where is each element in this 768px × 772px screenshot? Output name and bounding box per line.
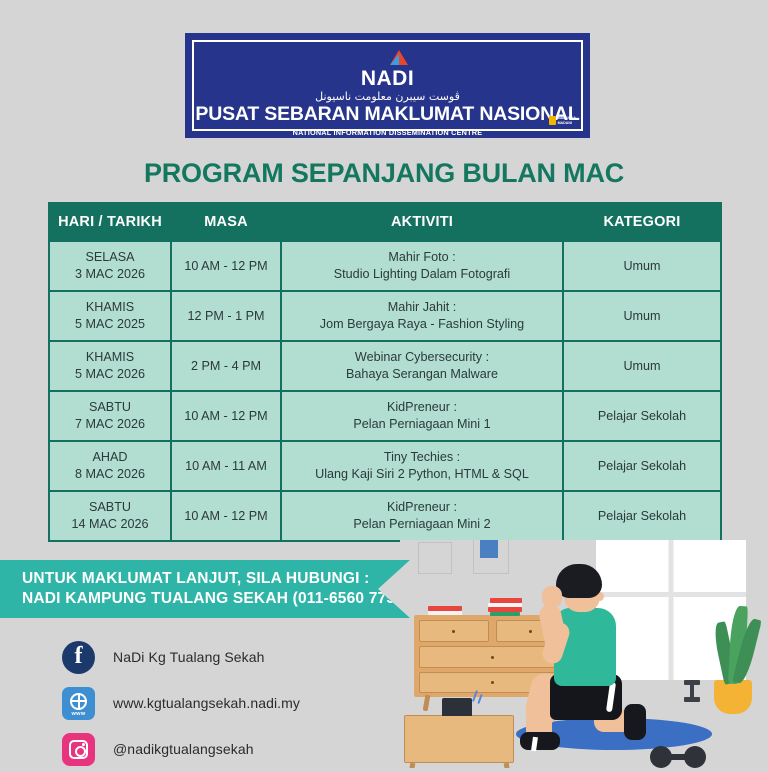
- cell-kategori: Umum: [563, 291, 721, 341]
- column-header-masa: MASA: [171, 203, 281, 241]
- facebook-icon[interactable]: f: [62, 641, 95, 674]
- activity-title: Tiny Techies :: [286, 449, 558, 466]
- column-header-aktiviti: AKTIVITI: [281, 203, 563, 241]
- activity-title: Mahir Jahit :: [286, 299, 558, 316]
- activity-detail: Studio Lighting Dalam Fotografi: [286, 266, 558, 283]
- table-row: KHAMIS 5 MAC 2026 2 PM - 4 PM Webinar Cy…: [49, 341, 721, 391]
- cell-aktiviti: Webinar Cybersecurity : Bahaya Serangan …: [281, 341, 563, 391]
- row-date: 3 MAC 2026: [54, 266, 166, 283]
- column-header-hari-tarikh: HARI / TARIKH: [49, 203, 171, 241]
- madani-mark-icon: [549, 116, 556, 125]
- cell-kategori: Pelajar Sekolah: [563, 441, 721, 491]
- cell-masa: 10 AM - 12 PM: [171, 391, 281, 441]
- mydigital-icon: [390, 50, 408, 65]
- social-link-website[interactable]: www www.kgtualangsekah.nadi.my: [62, 680, 300, 726]
- contact-line-1: UNTUK MAKLUMAT LANJUT, SILA HUBUNGI :: [22, 569, 410, 589]
- website-label: www.kgtualangsekah.nadi.my: [113, 695, 300, 711]
- row-day: AHAD: [54, 449, 166, 466]
- nadi-banner: NADI ڤوست سيبرن معلومت ناسيونل PUSAT SEB…: [185, 33, 590, 138]
- cell-aktiviti: Tiny Techies : Ulang Kaji Siri 2 Python,…: [281, 441, 563, 491]
- person-fist: [542, 586, 562, 608]
- nadi-acronym: NADI: [361, 68, 414, 89]
- activity-detail: Ulang Kaji Siri 2 Python, HTML & SQL: [286, 466, 558, 483]
- activity-title: KidPreneur :: [286, 399, 558, 416]
- cell-aktiviti: Mahir Jahit : Jom Bergaya Raya - Fashion…: [281, 291, 563, 341]
- cell-hari-tarikh: AHAD 8 MAC 2026: [49, 441, 171, 491]
- table-row: KHAMIS 5 MAC 2025 12 PM - 1 PM Mahir Jah…: [49, 291, 721, 341]
- cell-aktiviti: Mahir Foto : Studio Lighting Dalam Fotog…: [281, 241, 563, 291]
- table-row: SABTU 7 MAC 2026 10 AM - 12 PM KidPreneu…: [49, 391, 721, 441]
- cell-masa: 10 AM - 11 AM: [171, 441, 281, 491]
- jata-negara-icon: [368, 49, 383, 65]
- schedule-table: HARI / TARIKH MASA AKTIVITI KATEGORI SEL…: [48, 202, 722, 542]
- facebook-label: NaDi Kg Tualang Sekah: [113, 649, 265, 665]
- cell-aktiviti: KidPreneur : Pelan Perniagaan Mini 1: [281, 391, 563, 441]
- large-dumbbell-icon: [650, 746, 706, 768]
- cell-masa: 2 PM - 4 PM: [171, 341, 281, 391]
- row-day: SELASA: [54, 249, 166, 266]
- row-day: KHAMIS: [54, 349, 166, 366]
- activity-title: Mahir Foto :: [286, 249, 558, 266]
- plant-pot: [714, 680, 752, 714]
- row-day: KHAMIS: [54, 299, 166, 316]
- cell-kategori: Umum: [563, 241, 721, 291]
- cell-masa: 12 PM - 1 PM: [171, 291, 281, 341]
- side-table-furniture: [404, 715, 514, 763]
- madani-line2: MADANI: [558, 121, 572, 125]
- activity-title: Webinar Cybersecurity :: [286, 349, 558, 366]
- row-day: SABTU: [54, 399, 166, 416]
- row-date: 5 MAC 2026: [54, 366, 166, 383]
- table-row: AHAD 8 MAC 2026 10 AM - 11 AM Tiny Techi…: [49, 441, 721, 491]
- instagram-icon[interactable]: [62, 733, 95, 766]
- madani-text: MALAYSIA MADANI: [558, 116, 576, 124]
- table-row: SABTU 14 MAC 2026 10 AM - 12 PM KidPrene…: [49, 491, 721, 541]
- home-workout-illustration: [400, 540, 768, 768]
- activity-detail: Pelan Perniagaan Mini 1: [286, 416, 558, 433]
- row-day: SABTU: [54, 499, 166, 516]
- activity-detail: Bahaya Serangan Malware: [286, 366, 558, 383]
- social-link-instagram[interactable]: @nadikgtualangsekah: [62, 726, 300, 772]
- contact-ribbon: UNTUK MAKLUMAT LANJUT, SILA HUBUNGI : NA…: [0, 560, 410, 618]
- person-front-shoe: [520, 732, 560, 750]
- cell-kategori: Pelajar Sekolah: [563, 391, 721, 441]
- router-device: [442, 698, 472, 716]
- cell-aktiviti: KidPreneur : Pelan Perniagaan Mini 2: [281, 491, 563, 541]
- cell-kategori: Pelajar Sekolah: [563, 491, 721, 541]
- person-hair: [556, 564, 602, 598]
- table-header-row: HARI / TARIKH MASA AKTIVITI KATEGORI: [49, 203, 721, 241]
- crest-row: [368, 49, 408, 65]
- row-date: 7 MAC 2026: [54, 416, 166, 433]
- nadi-jawi-text: ڤوست سيبرن معلومت ناسيونل: [315, 91, 460, 103]
- cell-hari-tarikh: KHAMIS 5 MAC 2026: [49, 341, 171, 391]
- cell-kategori: Umum: [563, 341, 721, 391]
- row-date: 5 MAC 2025: [54, 316, 166, 333]
- wall-frame-right: [473, 540, 509, 574]
- table-row: SELASA 3 MAC 2026 10 AM - 12 PM Mahir Fo…: [49, 241, 721, 291]
- activity-detail: Jom Bergaya Raya - Fashion Styling: [286, 316, 558, 333]
- cell-hari-tarikh: SELASA 3 MAC 2026: [49, 241, 171, 291]
- cell-masa: 10 AM - 12 PM: [171, 491, 281, 541]
- malaysia-madani-logo: MALAYSIA MADANI: [549, 116, 576, 125]
- column-header-kategori: KATEGORI: [563, 203, 721, 241]
- www-label: www: [72, 711, 86, 717]
- contact-line-2: NADI KAMPUNG TUALANG SEKAH (011-6560 775…: [22, 589, 410, 609]
- cell-hari-tarikh: SABTU 14 MAC 2026: [49, 491, 171, 541]
- row-date: 14 MAC 2026: [54, 516, 166, 533]
- wall-frame-left: [418, 542, 452, 574]
- activity-title: KidPreneur :: [286, 499, 558, 516]
- cell-hari-tarikh: SABTU 7 MAC 2026: [49, 391, 171, 441]
- website-icon[interactable]: www: [62, 687, 95, 720]
- nadi-english-name: NATIONAL INFORMATION DISSEMINATION CENTR…: [293, 128, 483, 137]
- page-title: PROGRAM SEPANJANG BULAN MAC: [0, 158, 768, 189]
- nadi-malay-name: PUSAT SEBARAN MAKLUMAT NASIONAL: [195, 104, 579, 124]
- instagram-label: @nadikgtualangsekah: [113, 741, 254, 757]
- social-links-list: f NaDi Kg Tualang Sekah www www.kgtualan…: [62, 634, 300, 772]
- cell-masa: 10 AM - 12 PM: [171, 241, 281, 291]
- small-dumbbell-icon: [684, 680, 700, 702]
- person-exercising: [520, 564, 650, 744]
- nadi-banner-inner: NADI ڤوست سيبرن معلومت ناسيونل PUSAT SEB…: [192, 40, 583, 131]
- row-date: 8 MAC 2026: [54, 466, 166, 483]
- cell-hari-tarikh: KHAMIS 5 MAC 2025: [49, 291, 171, 341]
- social-link-facebook[interactable]: f NaDi Kg Tualang Sekah: [62, 634, 300, 680]
- person-back-shoe: [624, 704, 646, 740]
- activity-detail: Pelan Perniagaan Mini 2: [286, 516, 558, 533]
